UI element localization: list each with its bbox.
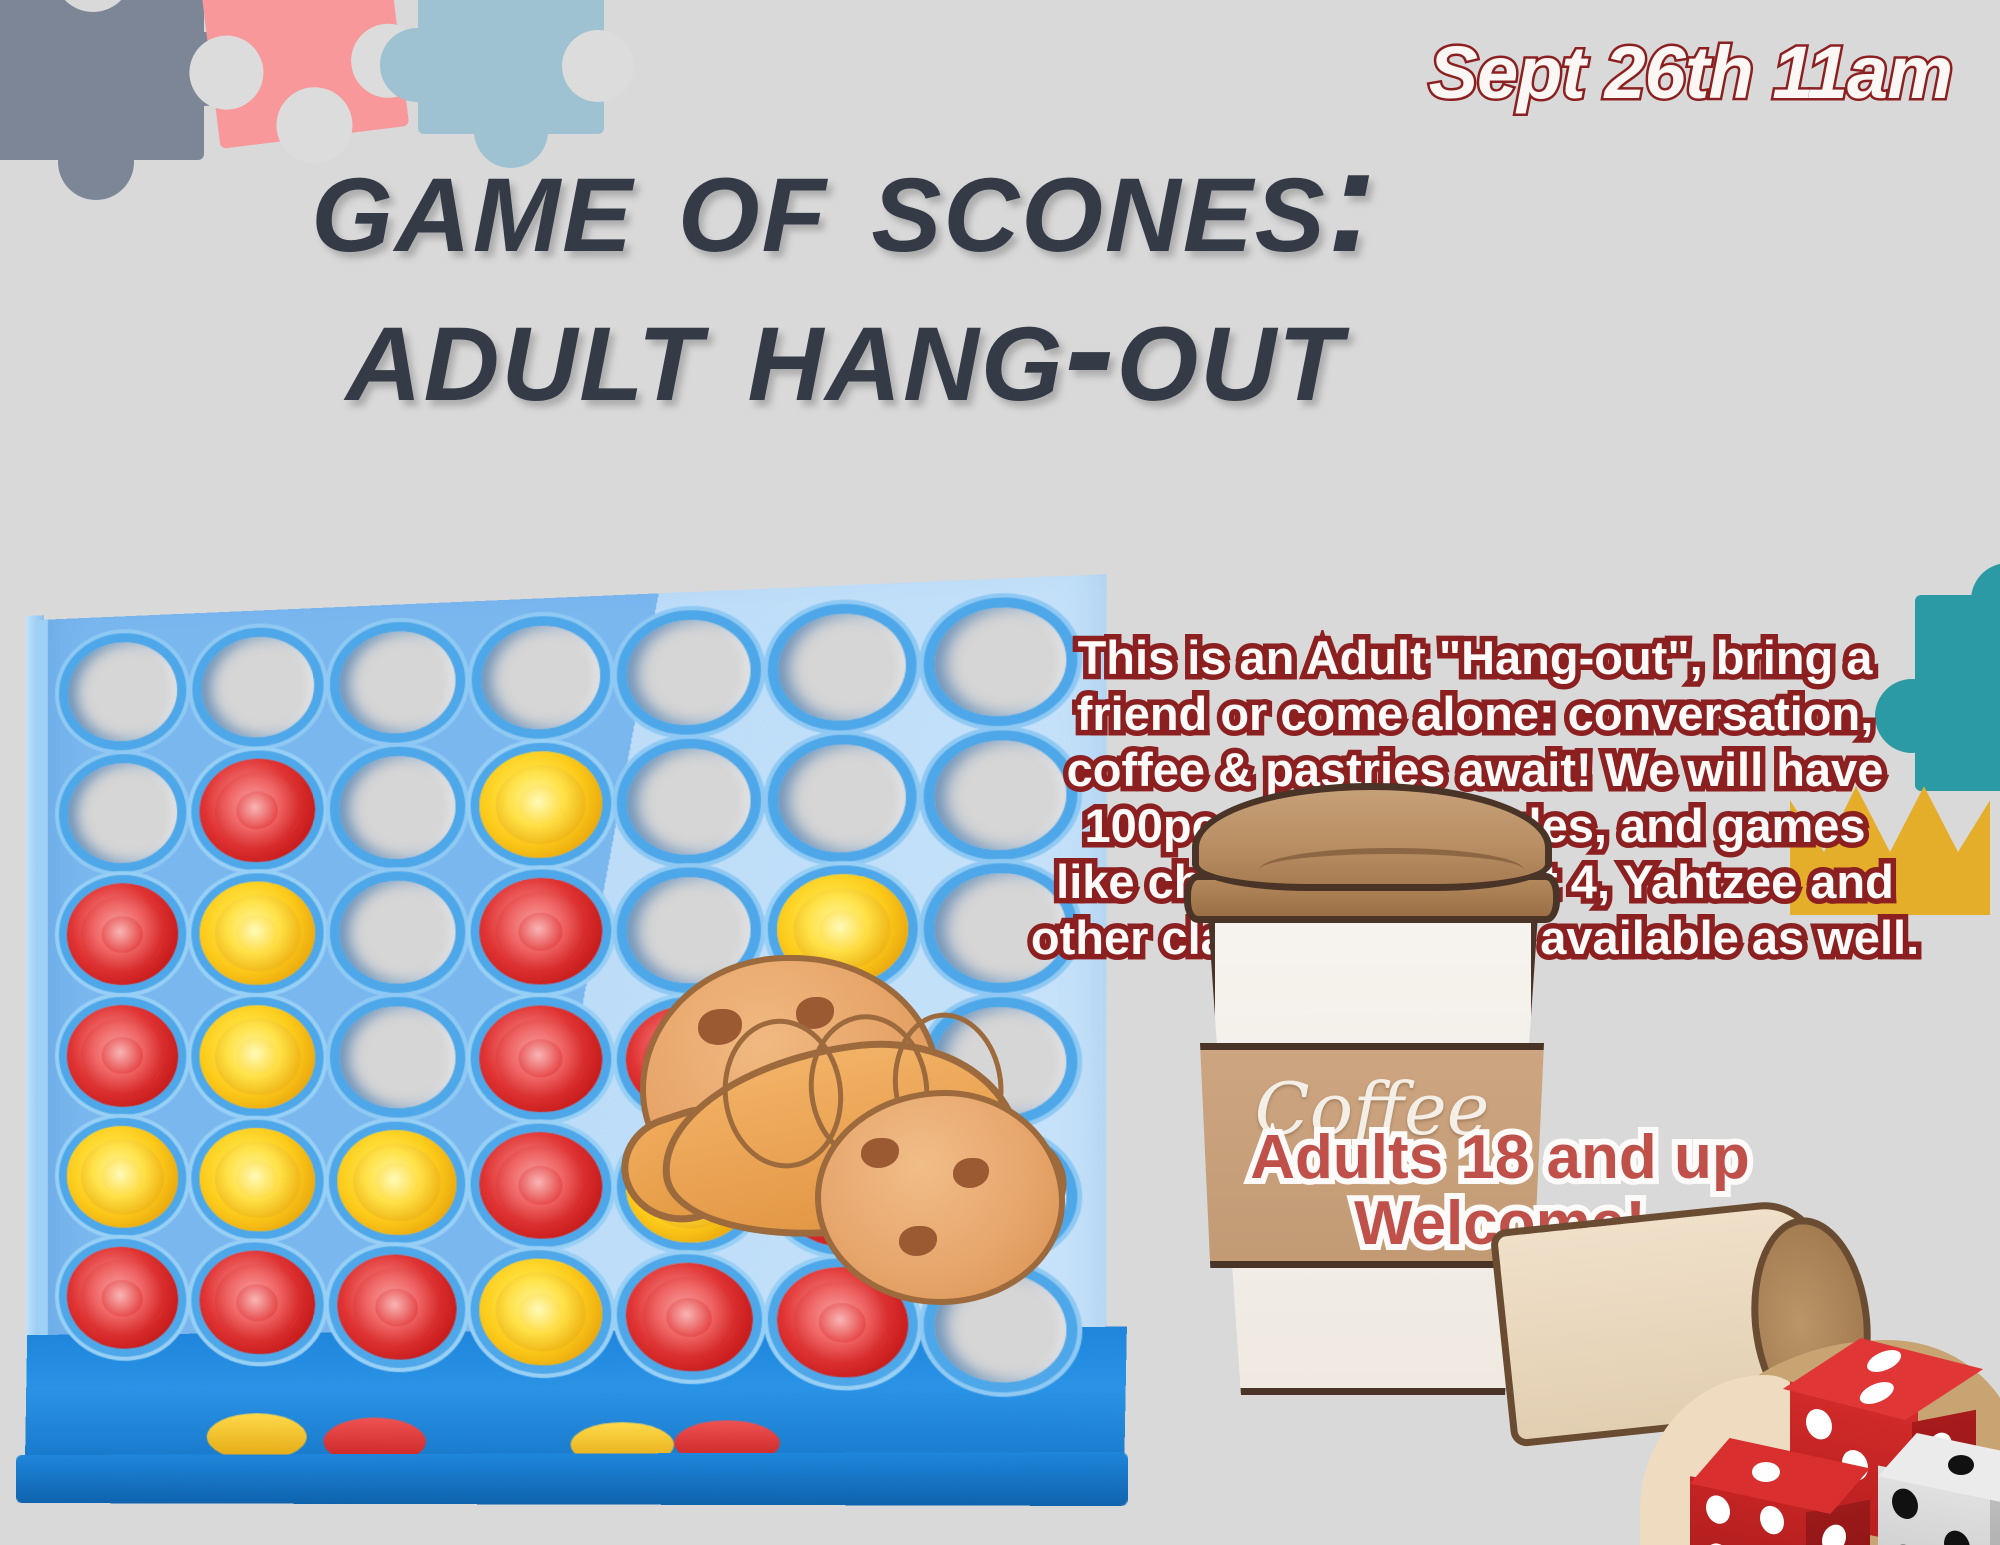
board-disc-red — [480, 1005, 603, 1112]
board-cell-r5-c3[interactable] — [326, 1119, 468, 1247]
board-hole-empty — [627, 747, 751, 855]
board-disc-red — [200, 757, 315, 863]
board-cell-r4-c1[interactable] — [56, 995, 189, 1117]
board-disc-red — [67, 1005, 179, 1108]
board-cell-r2-c2[interactable] — [189, 747, 326, 873]
die-white-icon — [1878, 1455, 2000, 1545]
board-cell-r5-c2[interactable] — [189, 1117, 326, 1243]
board-cell-r5-c4[interactable] — [468, 1121, 614, 1251]
board-cell-r5-c1[interactable] — [56, 1115, 189, 1239]
board-hole-empty — [339, 755, 455, 860]
board-cell-r2-c1[interactable] — [56, 751, 189, 875]
board-cell-r1-c2[interactable] — [189, 623, 326, 751]
board-cell-r4-c4[interactable] — [468, 995, 614, 1123]
page-title: Game of Scones: Adult Hang-out — [175, 125, 1515, 422]
title-line-1: Game of Scones: — [175, 125, 1515, 274]
board-cell-r6-c1[interactable] — [56, 1236, 189, 1362]
board-cell-r2-c3[interactable] — [326, 743, 468, 871]
board-cell-r2-c6[interactable] — [765, 731, 921, 865]
board-cell-r3-c1[interactable] — [56, 873, 189, 995]
board-hole-empty — [68, 640, 177, 743]
board-cell-r2-c5[interactable] — [614, 735, 765, 867]
board-disc-yellow — [338, 1129, 457, 1236]
board-hole-empty — [779, 743, 907, 853]
board-disc-red — [480, 1131, 603, 1240]
board-disc-yellow — [480, 1257, 603, 1368]
event-date-time: Sept 26th 11am — [1429, 30, 1952, 115]
board-disc-red — [480, 877, 603, 984]
board-cell-r1-c5[interactable] — [614, 605, 765, 739]
puzzle-piece-gray-icon — [0, 0, 204, 160]
board-hole-empty — [339, 1006, 455, 1109]
board-cell-r1-c1[interactable] — [56, 629, 189, 755]
board-cell-r6-c4[interactable] — [468, 1247, 614, 1379]
board-disc-yellow — [200, 881, 315, 985]
board-cell-r1-c6[interactable] — [765, 599, 921, 735]
board-cell-r4-c3[interactable] — [326, 995, 468, 1121]
board-hole-empty — [339, 629, 455, 735]
board-cell-r3-c4[interactable] — [468, 867, 614, 995]
board-disc-yellow — [200, 1127, 315, 1233]
cookie-icon — [815, 1090, 1065, 1305]
board-hole-empty — [68, 762, 177, 864]
die-red-bottom-icon — [1690, 1462, 1880, 1545]
description-line-1: This is an Adult "Hang-out", bring a — [955, 630, 1995, 686]
board-disc-yellow — [200, 1005, 315, 1109]
board-hole-empty — [201, 635, 314, 740]
board-disc-red — [67, 1246, 179, 1352]
board-cell-r3-c3[interactable] — [326, 869, 468, 995]
board-hole-empty — [339, 881, 455, 984]
cup-lid-line — [1259, 848, 1524, 892]
puzzle-piece-blue-icon — [418, 0, 604, 134]
board-cell-r1-c3[interactable] — [326, 617, 468, 747]
board-disc-red — [67, 883, 179, 986]
board-cell-r2-c4[interactable] — [468, 739, 614, 869]
board-hole-empty — [779, 611, 907, 723]
title-line-2: Adult Hang-out — [175, 274, 1515, 423]
board-cell-r1-c4[interactable] — [468, 611, 614, 743]
board-hole-empty — [627, 617, 751, 727]
description-line-2: friend or come alone: conversation, — [955, 686, 1995, 742]
board-foot — [16, 1452, 1128, 1506]
age-note-line-1: Adults 18 and up — [1060, 1125, 1940, 1191]
board-disc-red — [200, 1249, 315, 1356]
board-disc-red — [626, 1261, 753, 1374]
board-cell-r6-c2[interactable] — [189, 1239, 326, 1367]
board-disc-yellow — [67, 1125, 179, 1229]
board-hole-empty — [481, 623, 601, 731]
board-cell-r6-c3[interactable] — [326, 1243, 468, 1373]
board-cell-r6-c5[interactable] — [614, 1251, 765, 1385]
board-cell-r3-c2[interactable] — [189, 871, 326, 995]
board-disc-red — [338, 1253, 457, 1362]
board-cell-r4-c2[interactable] — [189, 995, 326, 1119]
board-disc-yellow — [480, 750, 603, 859]
poster-canvas: Sept 26th 11am Game of Scones: Adult Han… — [0, 0, 2000, 1545]
cup-lid — [1192, 783, 1552, 891]
